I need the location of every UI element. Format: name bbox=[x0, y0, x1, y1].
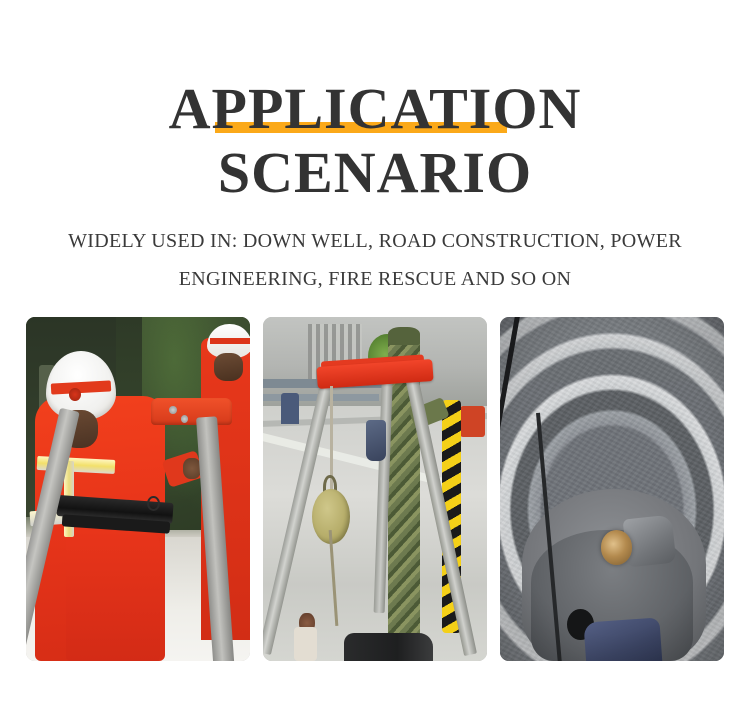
application-scenario-page: APPLICATION SCENARIO WIDELY USED IN: DOW… bbox=[0, 0, 750, 712]
photo1-main-worker-legs bbox=[66, 530, 160, 661]
photo2-crouching-worker-body bbox=[294, 627, 316, 661]
photo1-main-worker-helmet-badge bbox=[69, 388, 81, 402]
photo2-hanging-bag bbox=[366, 420, 386, 461]
photo1-main-worker-hand bbox=[183, 458, 201, 479]
photo2-distant-red-object bbox=[460, 406, 485, 437]
photo2-distant-person bbox=[281, 393, 299, 424]
photo1-tripod-bolt-2 bbox=[181, 415, 188, 423]
photo-well-interior bbox=[500, 317, 724, 661]
page-subtitle: WIDELY USED IN: DOWN WELL, ROAD CONSTRUC… bbox=[65, 222, 685, 298]
photo2-foreground-shadow bbox=[344, 633, 434, 661]
photo-card-rescue-team[interactable] bbox=[26, 317, 250, 661]
photo-rescue-team bbox=[26, 317, 250, 661]
photo2-soldier-cap bbox=[388, 327, 419, 344]
page-title-line-1-text: APPLICATION bbox=[169, 76, 582, 141]
photo-card-road-tripod[interactable] bbox=[263, 317, 487, 661]
photo-road-tripod bbox=[263, 317, 487, 661]
page-heading: APPLICATION SCENARIO bbox=[0, 78, 750, 204]
page-title-line-2-text: SCENARIO bbox=[218, 140, 532, 205]
photo3-vignette bbox=[500, 317, 724, 661]
photo1-second-worker-helmet-stripe bbox=[210, 338, 250, 344]
page-title-line-1: APPLICATION bbox=[169, 78, 582, 140]
photo1-second-worker-head bbox=[214, 353, 243, 381]
photo-card-well-interior[interactable] bbox=[500, 317, 724, 661]
photo1-tripod-head-plate bbox=[151, 398, 232, 426]
page-title-line-2: SCENARIO bbox=[0, 142, 750, 204]
application-photo-gallery bbox=[26, 317, 724, 661]
